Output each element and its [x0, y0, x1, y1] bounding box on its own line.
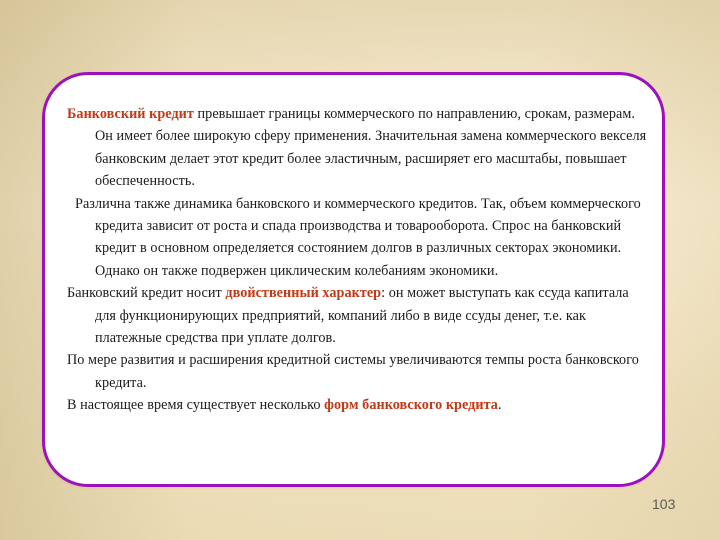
paragraph-5: В настоящее время существует несколько ф… — [67, 394, 653, 416]
paragraph-2-text: Различна также динамика банковского и ко… — [75, 196, 641, 279]
paragraph-4-text: По мере развития и расширения кредитной … — [67, 352, 639, 390]
paragraph-3: Банковский кредит носит двойственный хар… — [67, 282, 653, 349]
page-number: 103 — [652, 496, 675, 512]
paragraph-5-text-before: В настоящее время существует несколько — [67, 397, 324, 413]
slide-canvas: Банковский кредит превышает границы комм… — [0, 0, 720, 540]
paragraph-5-text-after: . — [498, 397, 502, 413]
highlight-dvoystvennyy-kharakter: двойственный характер — [225, 285, 381, 301]
paragraph-4: По мере развития и расширения кредитной … — [67, 349, 653, 394]
slide-body-text: Банковский кредит превышает границы комм… — [67, 103, 653, 417]
paragraph-1: Банковский кредит превышает границы комм… — [67, 103, 653, 193]
paragraph-2: Различна также динамика банковского и ко… — [67, 193, 653, 283]
paragraph-3-text-before: Банковский кредит носит — [67, 285, 225, 301]
content-box: Банковский кредит превышает границы комм… — [42, 72, 665, 487]
highlight-bankovskiy-kredit: Банковский кредит — [67, 106, 194, 122]
highlight-form-bankovskogo-kredita: форм банковского кредита — [324, 397, 498, 413]
